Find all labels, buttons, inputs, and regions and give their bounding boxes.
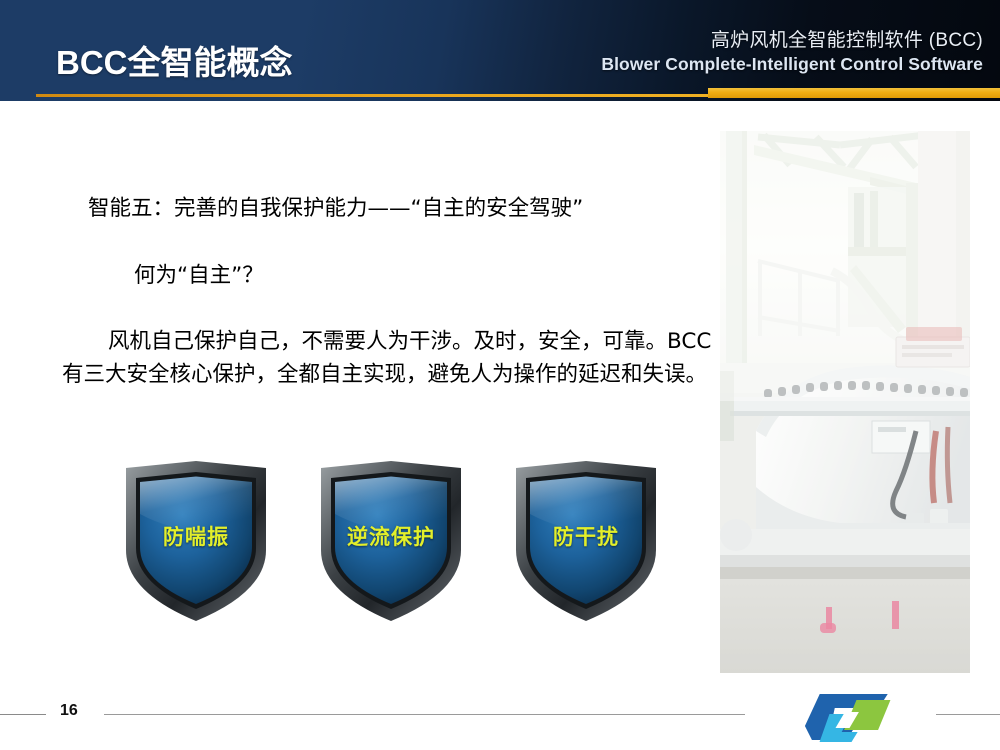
company-logo [795, 688, 891, 744]
slide-header: BCC全智能概念 高炉风机全智能控制软件 (BCC) Blower Comple… [0, 0, 1000, 101]
content-text-block: 智能五：完善的自我保护能力——“自主的安全驾驶” 何为“自主”？ 风机自己保护自… [62, 192, 712, 391]
header-subtitle-group: 高炉风机全智能控制软件 (BCC) Blower Complete-Intell… [601, 30, 983, 74]
footer-rule-middle [104, 714, 745, 715]
blower-machine-photo [720, 131, 970, 673]
header-accent-rule-thin [36, 94, 708, 97]
page-number: 16 [60, 703, 78, 719]
shield-badge-row: 防喘振 [120, 458, 680, 628]
shield-anti-interference: 防干扰 [510, 458, 662, 624]
paragraph-question: 何为“自主”？ [134, 259, 712, 292]
paragraph-intelligence-five: 智能五：完善的自我保护能力——“自主的安全驾驶” [88, 192, 712, 225]
shield-reverse-flow-protection: 逆流保护 [315, 458, 467, 624]
header-accent-rule-thick [708, 88, 1000, 98]
footer-rule-right [936, 714, 1000, 715]
header-subtitle-chinese: 高炉风机全智能控制软件 (BCC) [601, 30, 983, 52]
shield-anti-surge: 防喘振 [120, 458, 272, 624]
footer-rule-left [0, 714, 46, 715]
paragraph-explanation: 风机自己保护自己，不需要人为干涉。及时，安全，可靠。BCC有三大安全核心保护，全… [62, 325, 712, 392]
header-subtitle-english: Blower Complete-Intelligent Control Soft… [601, 54, 983, 74]
page-title: BCC全智能概念 [56, 46, 293, 79]
